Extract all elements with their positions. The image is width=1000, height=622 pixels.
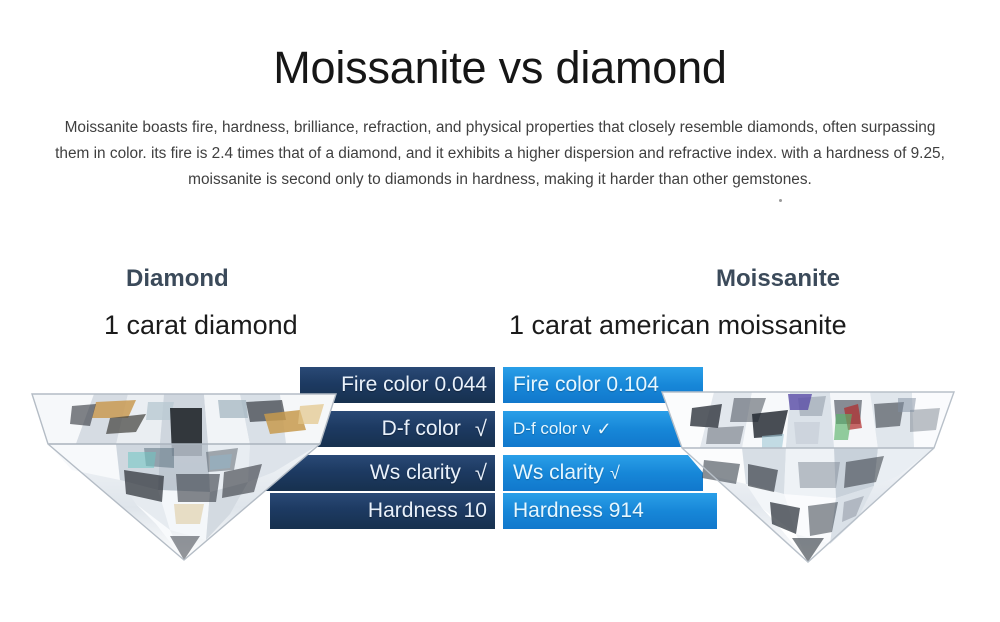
diamond-df-color-value: D-f color	[382, 417, 461, 441]
moissanite-df-color-value: D-f color v	[513, 419, 590, 439]
diamond-fire-color-value: Fire color 0.044	[341, 373, 487, 397]
diamond-ws-clarity-value: Ws clarity	[370, 461, 461, 485]
diamond-cell-hardness: Hardness 10	[270, 493, 495, 529]
moissanite-ws-clarity-value: Ws clarity	[513, 461, 604, 485]
diamond-hardness-value: Hardness 10	[368, 499, 487, 523]
moissanite-cell-ws-clarity: Ws clarity √	[503, 455, 703, 491]
diamond-cell-df-color: D-f color √	[262, 411, 495, 447]
moissanite-cell-hardness: Hardness 914	[503, 493, 717, 529]
checkmark-icon: √	[610, 463, 620, 484]
moissanite-fire-color-value: Fire color 0.104	[513, 373, 659, 397]
moissanite-vs-diamond-infographic: Moissanite vs diamond Moissanite boasts …	[0, 0, 1000, 622]
moissanite-cell-fire-color: Fire color 0.104	[503, 367, 703, 403]
diamond-cell-ws-clarity: Ws clarity √	[258, 455, 495, 491]
checkmark-icon: ✓	[596, 419, 611, 440]
checkmark-icon: √	[475, 460, 487, 486]
diamond-cell-fire-color: Fire color 0.044	[300, 367, 495, 403]
moissanite-hardness-value: Hardness 914	[513, 499, 644, 523]
comparison-table: Fire color 0.044 Fire color 0.104 D-f co…	[0, 0, 1000, 622]
checkmark-icon: √	[475, 416, 487, 442]
moissanite-cell-df-color: D-f color v ✓	[503, 411, 687, 447]
